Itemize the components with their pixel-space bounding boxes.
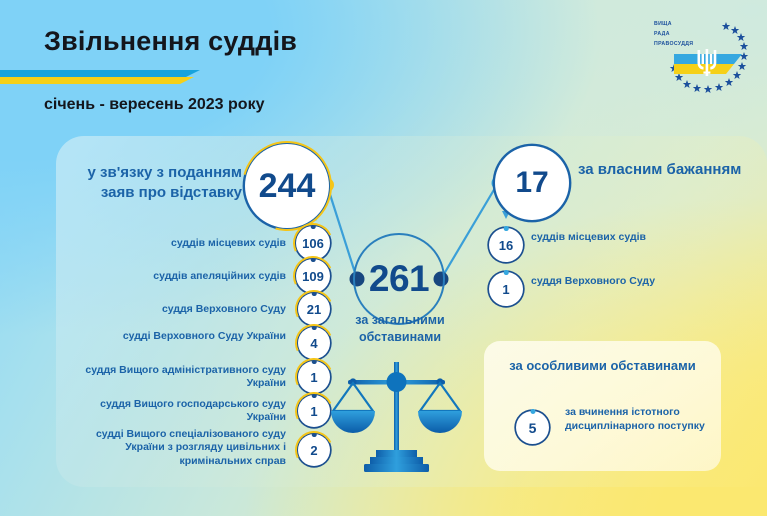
list-item[interactable]: суддя Вищого адміністративного суду Укра… — [70, 361, 330, 393]
badge-dot-icon — [312, 393, 317, 398]
list-item-label: суддя Верховного Суду — [66, 303, 286, 316]
list-item-label: судді Вищого спеціалізованого суду Украї… — [66, 428, 286, 468]
list-item-label: суддя Вищого адміністративного суду Укра… — [66, 364, 286, 391]
special-circumstances-box: за особливими обставинами 5 за вчинення … — [484, 341, 721, 471]
list-item[interactable]: 1 суддя Верховного Суду — [489, 272, 689, 306]
special-item-label: за вчинення істотного дисциплінарного по… — [565, 405, 715, 434]
list-item-value-badge: 1 — [489, 272, 523, 306]
list-item[interactable]: судді Верховного Суду України 4 — [70, 327, 330, 359]
list-item-value-badge: 1 — [298, 395, 330, 427]
list-item-value: 2 — [310, 443, 317, 458]
list-item-value: 1 — [310, 404, 317, 419]
logo-line-2: РАДА — [654, 30, 716, 40]
special-item-value: 5 — [529, 420, 537, 436]
list-item-value-badge: 2 — [298, 434, 330, 466]
badge-dot-icon — [312, 359, 317, 364]
badge-dot-icon — [504, 226, 509, 231]
page-title: Звільнення суддів — [44, 26, 297, 57]
badge-dot-icon — [530, 409, 535, 414]
list-item-value-badge: 1 — [298, 361, 330, 393]
list-item-value-badge: 4 — [298, 327, 330, 359]
badge-dot-icon — [311, 224, 316, 229]
badge-dot-icon — [312, 325, 317, 330]
list-item[interactable]: суддя Вищого господарського суду України… — [70, 395, 330, 427]
logo-wordmark: ВИЩА РАДА ПРАВОСУДДЯ — [654, 20, 716, 50]
right-group-total[interactable]: 17 — [495, 146, 569, 220]
list-item-value: 16 — [499, 238, 513, 253]
badge-dot-icon — [311, 257, 316, 262]
list-item-label: суддя Вищого господарського суду України — [66, 398, 286, 425]
left-group-label: у зв'язку з поданням заяв про відставку — [52, 163, 242, 204]
list-item-label: судді Верховного Суду України — [66, 330, 286, 343]
list-item-value: 21 — [307, 302, 321, 317]
list-item-label: суддів апеляційних судів — [66, 270, 286, 283]
logo-line-3: ПРАВОСУДДЯ — [654, 40, 716, 50]
scales-of-justice-icon — [328, 358, 468, 478]
list-item-value-badge: 21 — [298, 293, 330, 325]
list-item[interactable]: суддів місцевих судів 106 — [70, 226, 330, 260]
special-item-value-badge: 5 — [516, 411, 549, 444]
flag-accent-bar — [0, 70, 200, 84]
badge-dot-icon — [312, 432, 317, 437]
list-item[interactable]: судді Вищого спеціалізованого суду Украї… — [70, 434, 330, 466]
list-item[interactable]: суддя Верховного Суду 21 — [70, 293, 330, 325]
logo-line-1: ВИЩА — [654, 20, 716, 30]
list-item-value-badge: 16 — [489, 228, 523, 262]
list-item-label: суддів місцевих судів — [531, 231, 681, 245]
list-item-label: суддів місцевих судів — [66, 237, 286, 250]
badge-dot-icon — [504, 270, 509, 275]
badge-dot-icon — [312, 291, 317, 296]
organization-logo: ВИЩА РАДА ПРАВОСУДДЯ — [648, 16, 752, 104]
list-item-value: 1 — [502, 282, 509, 297]
total-value: 261 — [369, 258, 429, 300]
flag-bar-blue — [0, 70, 200, 77]
list-item-value: 109 — [302, 269, 324, 284]
flag-bar-yellow — [0, 77, 200, 84]
list-item-value-badge: 109 — [296, 259, 330, 293]
total-label: за загальними обставинами — [336, 312, 464, 346]
page-subtitle: січень - вересень 2023 року — [44, 96, 264, 114]
right-group-label: за власним бажанням — [578, 160, 753, 180]
special-circumstances-title: за особливими обставинами — [484, 357, 721, 375]
list-item[interactable]: суддів апеляційних судів 109 — [70, 259, 330, 293]
list-item-label: суддя Верховного Суду — [531, 275, 681, 289]
list-item[interactable]: 16 суддів місцевих судів — [489, 228, 689, 262]
list-item-value: 106 — [302, 236, 324, 251]
left-group-total[interactable]: 244 — [245, 144, 329, 228]
list-item-value: 4 — [310, 336, 317, 351]
list-item-value: 1 — [310, 370, 317, 385]
